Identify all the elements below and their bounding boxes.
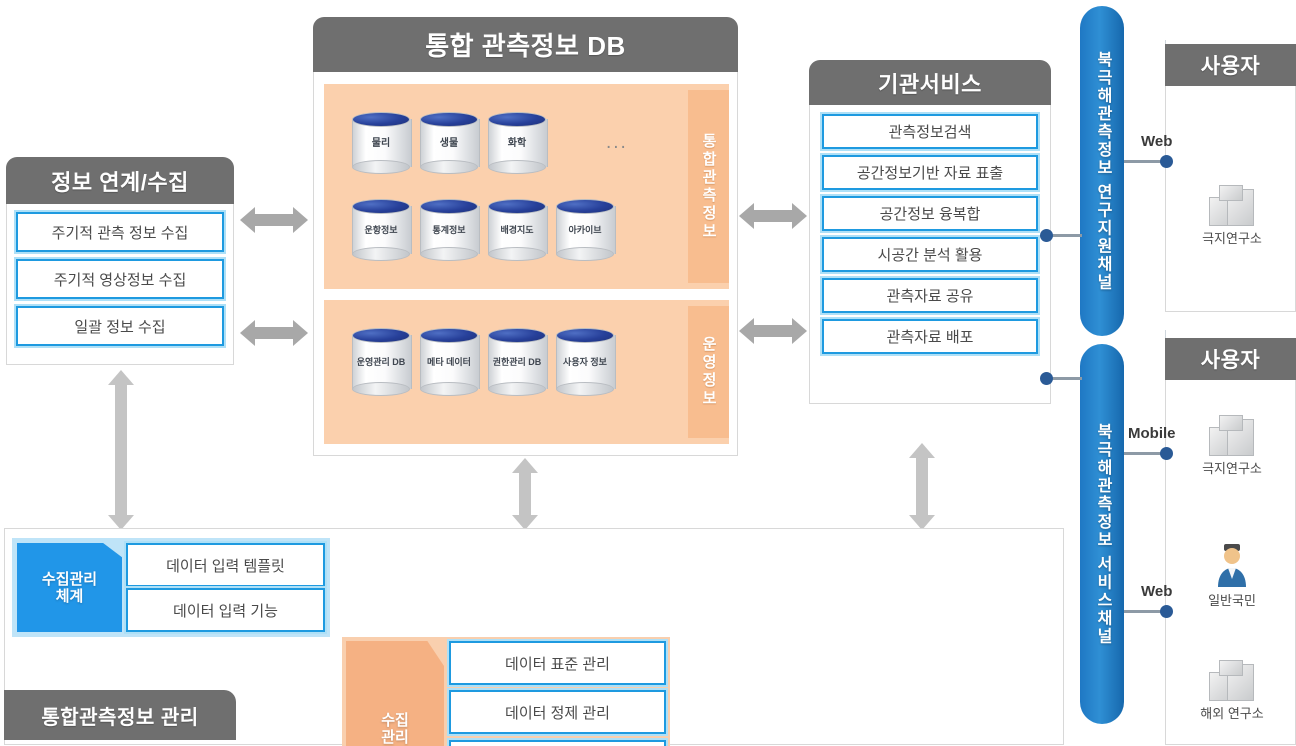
cylinder-top [420,112,478,127]
arrow-collect-to-db-upper [240,207,308,233]
collect-item-2-label: 일괄 정보 수집 [74,316,165,337]
arrow-shaft [255,214,293,226]
building-icon [1209,185,1255,225]
db-cylinder-archive: 아카이브 [556,199,614,261]
cylinder-bottom [352,160,410,174]
cylinder-top [488,112,546,127]
collect-item-2[interactable]: 일괄 정보 수집 [16,306,224,346]
cylinder-bottom [556,382,614,396]
cylinder-top [352,199,410,214]
collect-panel-header: 정보 연계/수집 [6,157,234,204]
arrow-collect-to-db-lower [240,320,308,346]
db-cylinder-auth-db: 권한관리 DB [488,328,546,396]
data-management-block: 수집 관리 체계 [346,641,444,746]
arrow-shaft [255,327,293,339]
db-cylinder-label: 생물 [420,138,478,149]
users-top-title: 사용자 [1201,50,1260,80]
db-cylinder-label: 운영관리 DB [352,357,410,368]
collection-item-0-label: 데이터 입력 템플릿 [166,555,285,576]
arrow-head-left [240,320,255,346]
user-entry-label: 극지연구소 [1186,228,1278,247]
db-cylinder-label: 메타 데이터 [420,357,478,368]
agency-service-item-4[interactable]: 관측자료 공유 [822,278,1038,313]
person-icon-svg [1215,543,1249,587]
cylinder-bottom [488,247,546,261]
db-cylinder-label: 권한관리 DB [488,357,546,368]
cylinder-top [556,199,614,214]
person-icon [1215,543,1249,587]
user-entry-label: 일반국민 [1186,590,1278,609]
collect-item-1-label: 주기적 영상정보 수집 [54,269,187,290]
collection-item-1-label: 데이터 입력 기능 [173,600,278,621]
users-top-header: 사용자 [1165,44,1296,86]
arrow-shaft [115,385,127,515]
operation-data-area: 운영정보 운영관리 DB 메타 데이터 [324,300,729,444]
user-entry-overseas-institute: 해외 연구소 [1186,660,1278,722]
data-item-0-label: 데이터 표준 관리 [505,653,610,674]
system-architecture-diagram: 정보 연계/수집 주기적 관측 정보 수집 주기적 영상정보 수집 일괄 정보 … [0,0,1296,746]
service-channel[interactable]: 북극해관측정보 서비스채널 [1080,344,1124,724]
db-cylinder-user-info: 사용자 정보 [556,328,614,396]
connector-dot-web-top [1160,155,1173,168]
arrow-head-right [792,203,807,229]
management-group-collection: 수집관리 체계 데이터 입력 템플릿 데이터 입력 기능 [12,538,330,637]
cylinder-bottom [556,247,614,261]
arrow-head-up [108,370,134,385]
cylinder-bottom [488,382,546,396]
building-part [1219,185,1243,201]
cylinder-bottom [420,160,478,174]
agency-service-item-0[interactable]: 관측정보검색 [822,114,1038,149]
arrow-shaft [519,473,531,515]
db-cylinder-statistics-info: 통계정보 [420,199,478,261]
management-group-data: 수집 관리 체계 데이터 표준 관리 데이터 정제 관리 데이터 품질 관리 데… [342,637,670,746]
agency-service-item-1[interactable]: 공간정보기반 자료 표출 [822,155,1038,190]
db-cylinder-label: 운항정보 [352,225,410,236]
arrow-shaft [754,325,792,337]
data-item-1[interactable]: 데이터 정제 관리 [449,690,666,734]
arrow-head-left [739,203,754,229]
connector-dot-service-research [1040,229,1053,242]
db-cylinder-metadata: 메타 데이터 [420,328,478,396]
agency-service-item-4-label: 관측자료 공유 [887,285,974,306]
arrow-head-right [792,318,807,344]
db-cylinder-chemistry: 화학 [488,112,546,174]
cylinder-bottom [352,382,410,396]
arrow-shaft [916,458,928,515]
db-cylinder-label: 화학 [488,138,546,149]
central-db-body: 통합관측정보 물리 생물 [313,72,738,456]
agency-service-item-2[interactable]: 공간정보 융복합 [822,196,1038,231]
connector-dot-service-distribution [1040,372,1053,385]
collection-item-1[interactable]: 데이터 입력 기능 [126,588,325,632]
arrow-db-to-management [512,458,538,530]
db-cylinder-operation-db: 운영관리 DB [352,328,410,396]
users-bottom-title: 사용자 [1201,344,1260,374]
collect-item-0-label: 주기적 관측 정보 수집 [52,222,189,243]
arrow-head-right [293,320,308,346]
user-entry-polar-institute-bottom: 극지연구소 [1186,415,1278,477]
arrow-shaft [754,210,792,222]
data-management-block-label: 수집 관리 체계 [381,712,409,746]
db-cylinder-biology: 생물 [420,112,478,174]
db-cylinder-label: 아카이브 [556,225,614,236]
db-cylinder-label: 배경지도 [488,225,546,236]
management-title-bar: 통합관측정보 관리 [4,690,236,740]
arrow-head-up [512,458,538,473]
cylinder-top [352,112,410,127]
user-entry-label: 해외 연구소 [1186,703,1278,722]
collect-panel-title: 정보 연계/수집 [51,165,189,197]
research-support-channel[interactable]: 북극해관측정보 연구지원채널 [1080,6,1124,336]
arrow-db-to-service-lower [739,318,807,344]
arrow-head-up [909,443,935,458]
collect-item-1[interactable]: 주기적 영상정보 수집 [16,259,224,299]
cylinder-top [420,328,478,343]
building-part [1219,415,1243,431]
agency-service-header: 기관서비스 [809,60,1051,105]
arrow-head-left [739,318,754,344]
collect-item-0[interactable]: 주기적 관측 정보 수집 [16,212,224,252]
collection-management-block-label: 수집관리 체계 [42,571,97,605]
central-db-title: 통합 관측정보 DB [425,26,626,63]
connector-dot-web-bottom [1160,605,1173,618]
cylinder-top [488,328,546,343]
connector-dot-mobile [1160,447,1173,460]
db-cylinder-label: 통계정보 [420,225,478,236]
agency-service-title: 기관서비스 [878,67,982,99]
management-title: 통합관측정보 관리 [41,701,198,730]
arrow-service-to-management [909,443,935,530]
cylinder-top [352,328,410,343]
db-cylinder-label: 물리 [352,138,410,149]
cylinder-bottom [488,160,546,174]
collection-management-block: 수집관리 체계 [17,543,122,632]
collection-item-0[interactable]: 데이터 입력 템플릿 [126,543,325,587]
arrow-collect-to-management [108,370,134,530]
agency-service-item-3-label: 시공간 분석 활용 [878,244,983,265]
ellipsis-indicator: ... [606,132,628,154]
data-item-1-label: 데이터 정제 관리 [505,702,610,723]
user-entry-polar-institute-top: 극지연구소 [1186,185,1278,247]
db-cylinder-basemap: 배경지도 [488,199,546,261]
cylinder-bottom [420,382,478,396]
db-cylinder-physics: 물리 [352,112,410,174]
network-label-web-top: Web [1141,133,1172,150]
arrow-head-right [293,207,308,233]
network-label-mobile: Mobile [1128,425,1176,442]
observation-data-area: 통합관측정보 물리 생물 [324,84,729,289]
agency-service-item-5[interactable]: 관측자료 배포 [822,319,1038,354]
agency-service-item-0-label: 관측정보검색 [889,121,972,142]
central-db-header: 통합 관측정보 DB [313,17,738,72]
observation-side-label: 통합관측정보 [688,90,729,283]
arrow-db-to-service-upper [739,203,807,229]
data-item-2[interactable]: 데이터 품질 관리 [449,740,666,746]
cylinder-top [420,199,478,214]
network-label-web-bottom: Web [1141,583,1172,600]
building-part [1219,660,1243,676]
cylinder-bottom [420,247,478,261]
user-entry-general-public: 일반국민 [1186,543,1278,609]
building-icon [1209,415,1255,455]
agency-service-body: 관측정보검색 공간정보기반 자료 표출 공간정보 융복합 시공간 분석 활용 관… [809,105,1051,404]
agency-service-item-2-label: 공간정보 융복합 [880,203,981,224]
building-icon [1209,660,1255,700]
agency-service-item-5-label: 관측자료 배포 [887,326,974,347]
cylinder-top [488,199,546,214]
agency-service-item-1-label: 공간정보기반 자료 표출 [857,162,1003,183]
db-cylinder-label: 사용자 정보 [556,357,614,368]
db-cylinder-navigation-info: 운항정보 [352,199,410,261]
data-item-0[interactable]: 데이터 표준 관리 [449,641,666,685]
research-support-channel-label: 북극해관측정보 연구지원채널 [1090,51,1114,291]
service-channel-label: 북극해관측정보 서비스채널 [1090,423,1114,645]
collect-panel-body: 주기적 관측 정보 수집 주기적 영상정보 수집 일괄 정보 수집 [6,204,234,365]
agency-service-item-3[interactable]: 시공간 분석 활용 [822,237,1038,272]
cylinder-bottom [352,247,410,261]
arrow-head-left [240,207,255,233]
cylinder-top [556,328,614,343]
user-entry-label: 극지연구소 [1186,458,1278,477]
users-bottom-header: 사용자 [1165,338,1296,380]
operation-side-label: 운영정보 [688,306,729,438]
